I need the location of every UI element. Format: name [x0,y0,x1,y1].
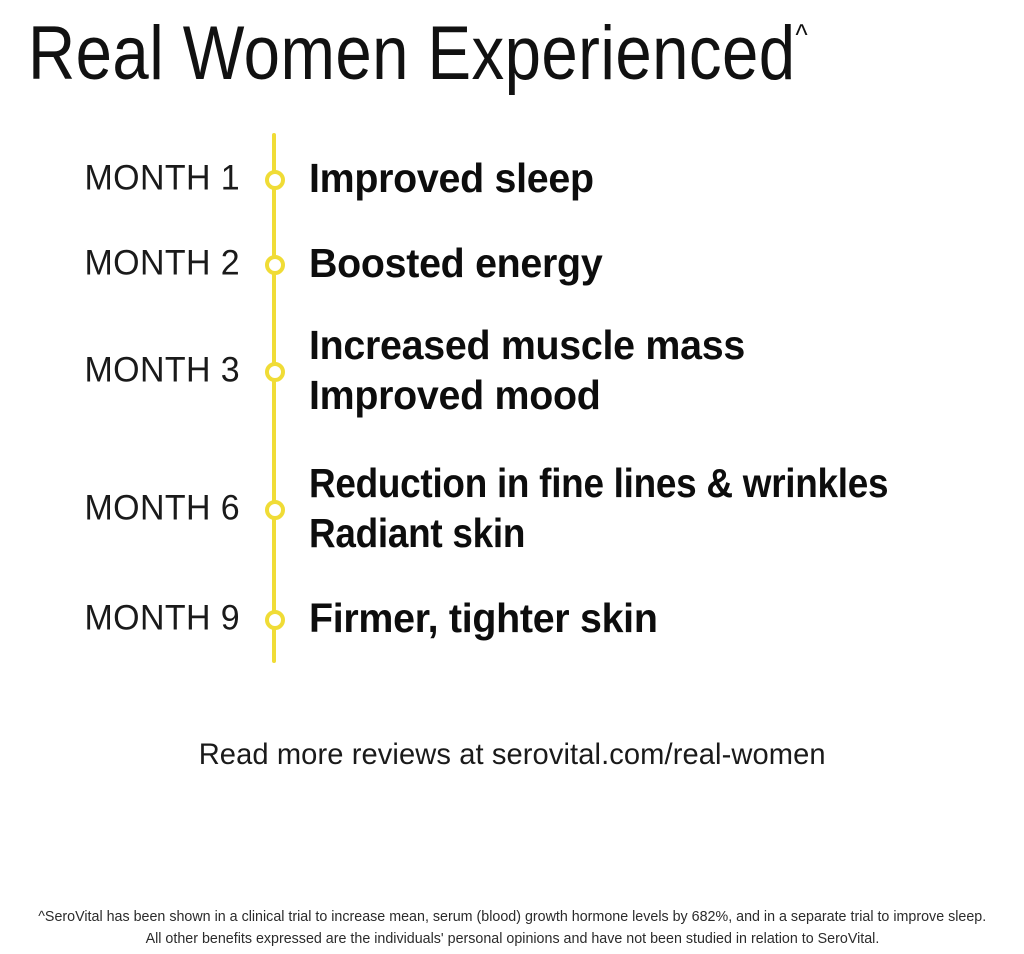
timeline-marker-circle-icon [265,500,285,520]
page-title: Real Women Experienced^ [28,0,808,102]
page-title-footnote-marker: ^ [796,19,808,52]
timeline-marker-circle-icon [265,610,285,630]
timeline-month-label: MONTH 6 [7,491,240,526]
timeline-month-label: MONTH 2 [7,246,240,281]
timeline-benefit: Reduction in fine lines & wrinkles [309,458,888,508]
read-more-reviews-link[interactable]: Read more reviews at serovital.com/real-… [0,736,1024,774]
legal-footnote-line-1-text: ^SeroVital has been shown in a clinical … [38,906,986,928]
timeline-benefit: Boosted energy [309,238,602,288]
timeline-marker-circle-icon [265,362,285,382]
timeline-benefit: Improved sleep [309,153,594,203]
timeline-benefit: Radiant skin [309,508,888,558]
timeline-benefit: Improved mood [309,370,745,420]
timeline-benefit-group: Reduction in fine lines & wrinkles Radia… [309,458,953,558]
legal-footnote: ^SeroVital has been shown in a clinical … [0,906,1024,950]
timeline-benefit-group: Boosted energy [309,238,615,288]
timeline-marker-circle-icon [265,170,285,190]
timeline-month-label: MONTH 3 [7,353,240,388]
timeline-benefit: Increased muscle mass [309,320,745,370]
timeline-benefit: Firmer, tighter skin [309,593,658,643]
benefits-timeline: MONTH 1 Improved sleep MONTH 2 Boosted e… [0,120,1024,680]
timeline-marker-circle-icon [265,255,285,275]
timeline-month-label: MONTH 1 [7,161,240,196]
legal-footnote-line-2-text: All other benefits expressed are the ind… [145,928,879,950]
legal-footnote-line-1: ^SeroVital has been shown in a clinical … [0,906,1024,928]
timeline-axis-line [272,133,276,663]
timeline-benefit-group: Increased muscle mass Improved mood [309,320,763,420]
legal-footnote-line-2: All other benefits expressed are the ind… [0,928,1024,950]
page-title-text: Real Women Experienced [28,11,796,96]
timeline-benefit-group: Improved sleep [309,153,606,203]
timeline-month-label: MONTH 9 [7,601,240,636]
read-more-reviews-text: Read more reviews at serovital.com/real-… [198,736,825,774]
timeline-benefit-group: Firmer, tighter skin [309,593,672,643]
